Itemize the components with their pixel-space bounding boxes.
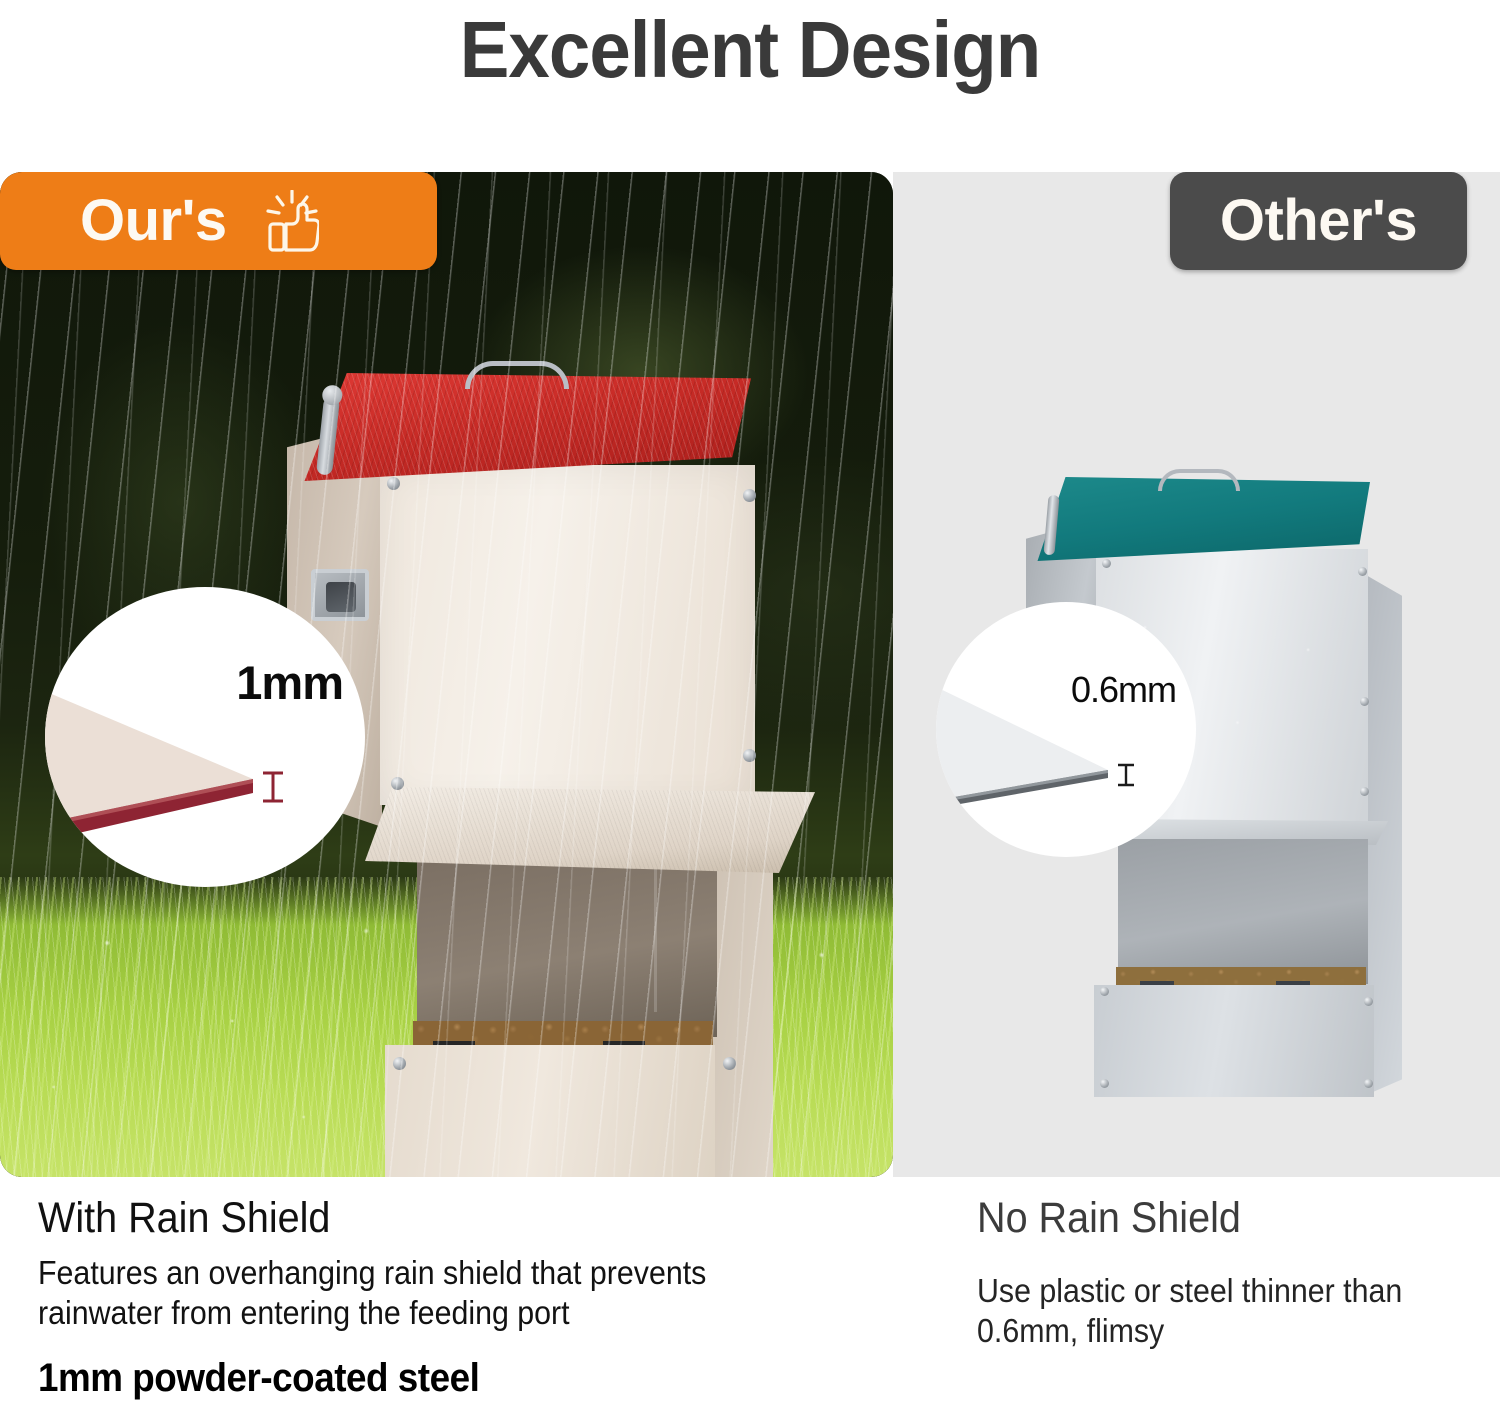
caption-ours: With Rain Shield Features an overhanging… <box>38 1196 858 1401</box>
panel-ours: 1mm Our's <box>0 172 893 1177</box>
screw-icon <box>391 777 404 790</box>
screw-icon <box>1360 697 1369 706</box>
caption-heading-ours: With Rain Shield <box>38 1196 792 1241</box>
screw-icon <box>1360 787 1369 796</box>
feeder-front-trough <box>1094 985 1374 1097</box>
caption-heading-others: No Rain Shield <box>977 1196 1446 1241</box>
screw-icon <box>743 749 756 762</box>
side-grip-handle-icon <box>311 569 369 621</box>
feeding-port-cavity <box>417 857 717 1037</box>
screw-icon <box>393 1057 406 1070</box>
screw-icon <box>743 489 756 502</box>
screw-icon <box>1102 559 1111 568</box>
thickness-callout-ours: 1mm <box>45 587 365 887</box>
thickness-callout-others: 0.6mm <box>936 602 1196 857</box>
screw-icon <box>1358 567 1367 576</box>
panel-others: 0.6mm Other's <box>893 172 1500 1177</box>
caption-body-others: Use plastic or steel thinner than 0.6mm,… <box>977 1271 1446 1352</box>
feeder-front-trough <box>385 1045 715 1177</box>
rain-shield-overhang <box>365 787 815 873</box>
callout-value-others: 0.6mm <box>1071 672 1176 708</box>
screw-icon <box>387 477 400 490</box>
callout-value-ours: 1mm <box>236 659 343 706</box>
lid-handle-icon <box>465 361 569 389</box>
thumbs-up-icon <box>265 190 319 252</box>
caption-area: With Rain Shield Features an overhanging… <box>0 1196 1500 1420</box>
badge-ours[interactable]: Our's <box>0 172 437 270</box>
caption-others: No Rain Shield Use plastic or steel thin… <box>977 1196 1487 1352</box>
comparison-panels: 1mm Our's <box>0 172 1500 1177</box>
page-title: Excellent Design <box>53 0 1448 90</box>
badge-others[interactable]: Other's <box>1170 172 1467 270</box>
caption-body-ours: Features an overhanging rain shield that… <box>38 1253 792 1334</box>
lid-handle-icon <box>1158 469 1240 491</box>
steel-cross-section-diagram <box>45 587 365 887</box>
badge-label-ours: Our's <box>80 192 227 250</box>
screw-icon <box>723 1057 736 1070</box>
feeder-hopper-body <box>380 465 755 805</box>
screw-icon <box>1100 987 1109 996</box>
screw-icon <box>1364 1079 1373 1088</box>
screw-icon <box>1100 1079 1109 1088</box>
badge-label-others: Other's <box>1220 192 1417 250</box>
caption-highlight-ours: 1mm powder-coated steel <box>38 1356 792 1401</box>
feeding-port-cavity <box>1118 839 1368 984</box>
steel-cross-section-diagram <box>936 602 1196 857</box>
screw-icon <box>1364 997 1373 1006</box>
